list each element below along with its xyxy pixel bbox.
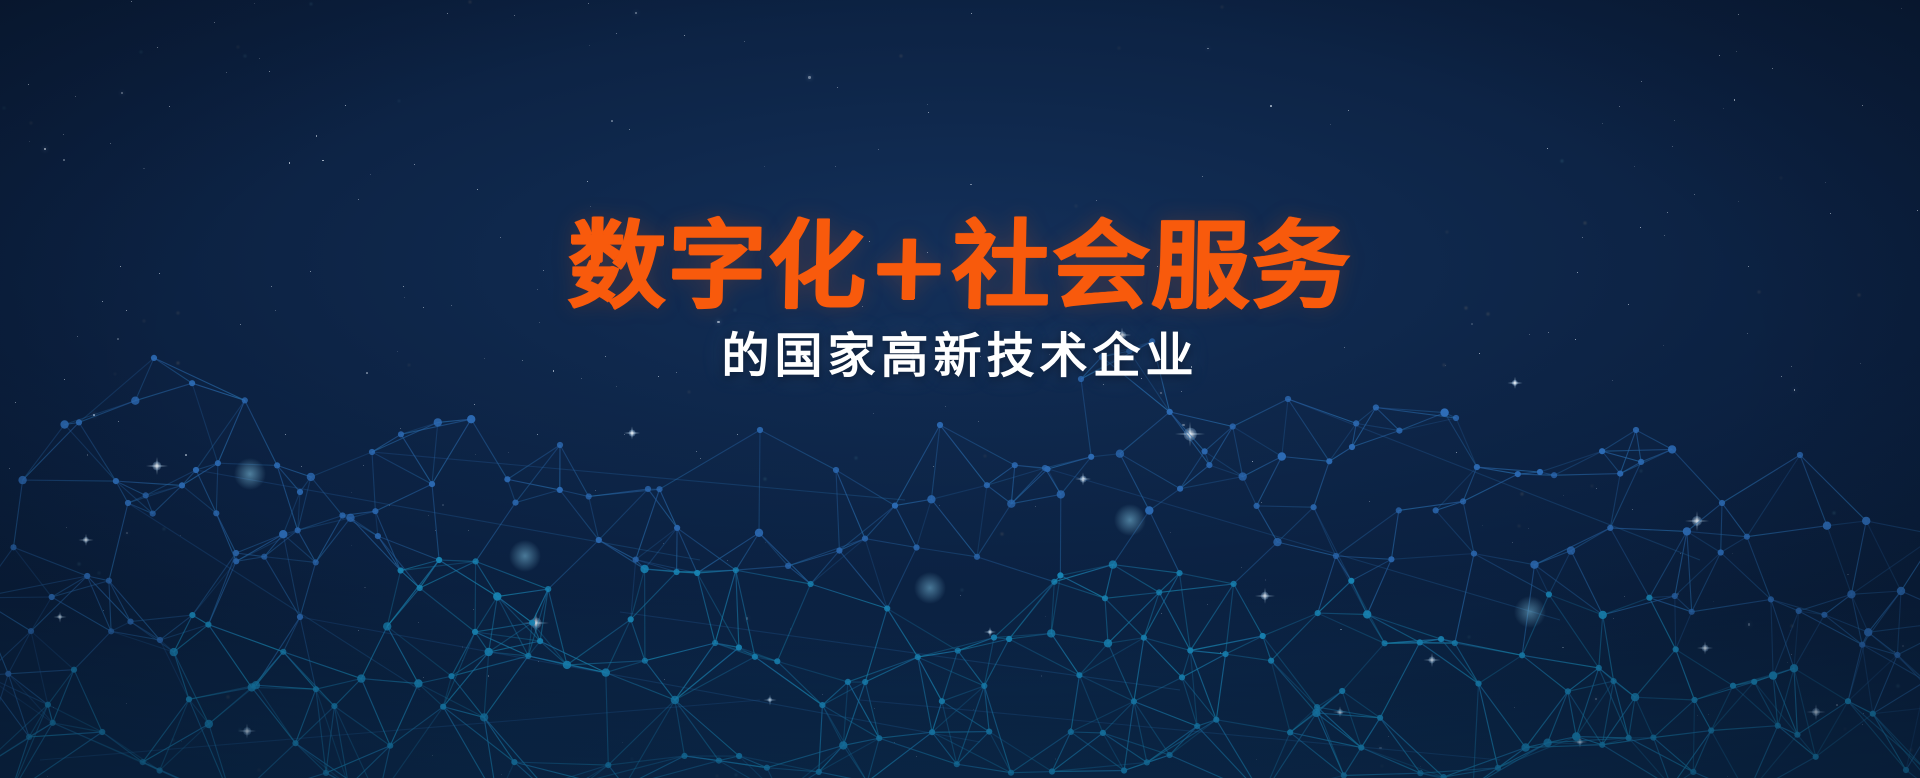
- banner-subtitle: 的国家高新技术企业: [0, 330, 1920, 383]
- banner-canvas: 数字化+社会服务 的国家高新技术企业: [0, 0, 1920, 778]
- banner-headline: 数字化+社会服务: [0, 218, 1920, 316]
- banner-text-block: 数字化+社会服务 的国家高新技术企业: [0, 218, 1920, 383]
- background-gradient: [0, 0, 1920, 778]
